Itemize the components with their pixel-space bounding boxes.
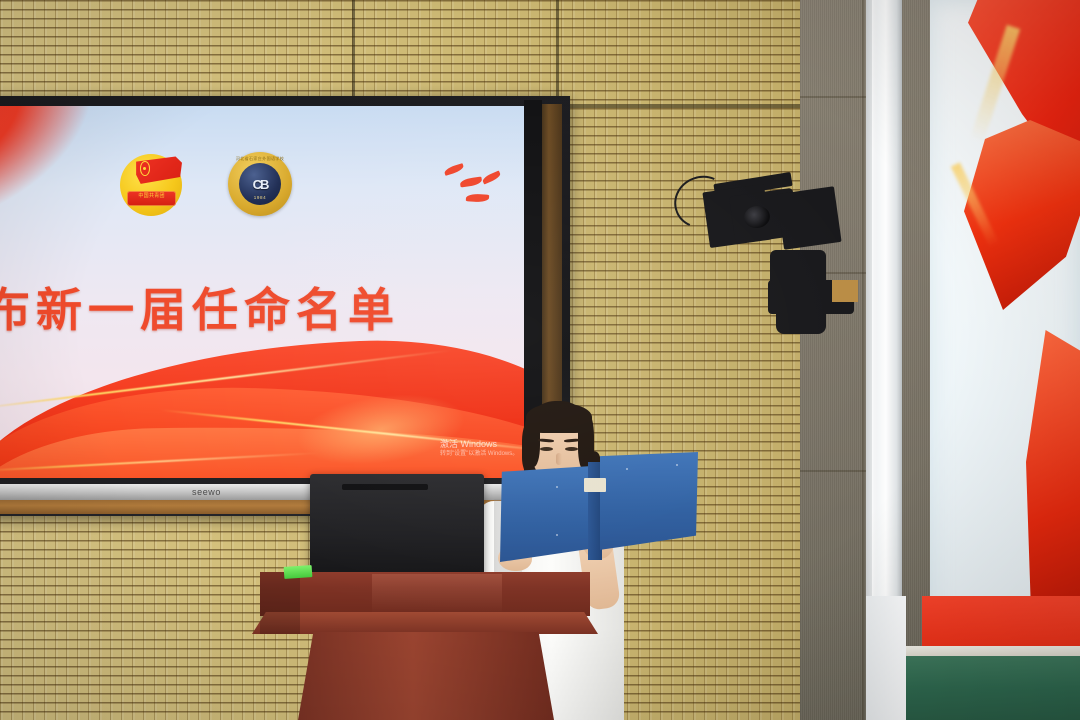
school-emblem-year: 1984: [239, 195, 281, 200]
red-scarf-banner: [930, 0, 1080, 660]
emblem-band-text: 中国共青团: [127, 191, 175, 199]
emblem-star-icon: [140, 161, 150, 175]
school-emblem-center: CB 1984: [239, 163, 281, 205]
podium: [252, 572, 604, 720]
speaker-eye: [565, 447, 578, 451]
red-banner-strip: [922, 596, 1080, 652]
camera-wall-plate: [832, 280, 858, 302]
fabric-panel-seam: [862, 0, 864, 720]
monitor-rear-panel: [310, 474, 484, 582]
monitor-vent: [342, 484, 428, 490]
red-scarf-shape: [952, 120, 1080, 310]
folder-hole: [676, 464, 678, 466]
podium-column: [298, 632, 554, 720]
folder-hole: [626, 468, 628, 470]
podium-shading: [260, 572, 300, 634]
wall-panel-seam: [556, 0, 559, 110]
school-emblem: 河北省石家庄外国语学校 CB 1984: [228, 152, 292, 216]
camera-rear-block: [776, 186, 841, 250]
folder-right-panel: [600, 452, 698, 554]
podium-front-lip: [252, 612, 598, 634]
sticky-note: [284, 565, 313, 579]
wall-panel-seam: [352, 0, 355, 108]
document-folder[interactable]: [500, 452, 700, 572]
whiteboard-brand-label: seewo: [192, 487, 221, 497]
emblem-band: 中国共青团: [127, 191, 175, 206]
photo-scene: 中国共青团 河北省石家庄外国语学校 CB 1984 布新一届任命名单 激活 Wi…: [0, 0, 1080, 720]
folder-hole: [556, 486, 558, 488]
wall-corner-left-of-chalkboard: [866, 596, 906, 720]
folder-spine: [588, 462, 602, 560]
camera-wall-arm: [776, 308, 826, 334]
communist-youth-league-emblem: 中国共青团: [120, 154, 182, 216]
podium-monitor: [310, 474, 484, 582]
podium-highlight: [372, 574, 502, 614]
slide-title: 布新一届任命名单: [0, 274, 400, 340]
folder-spine-label: [584, 478, 606, 492]
folder-left-panel: [500, 466, 592, 562]
chalkboard: [906, 656, 1080, 720]
folder-hole: [556, 534, 558, 536]
school-emblem-arc-top: 河北省石家庄外国语学校: [228, 156, 292, 162]
scarf-lower-fold: [1026, 330, 1080, 630]
speaker-eye: [540, 447, 553, 451]
video-camera-rig: [672, 162, 872, 352]
